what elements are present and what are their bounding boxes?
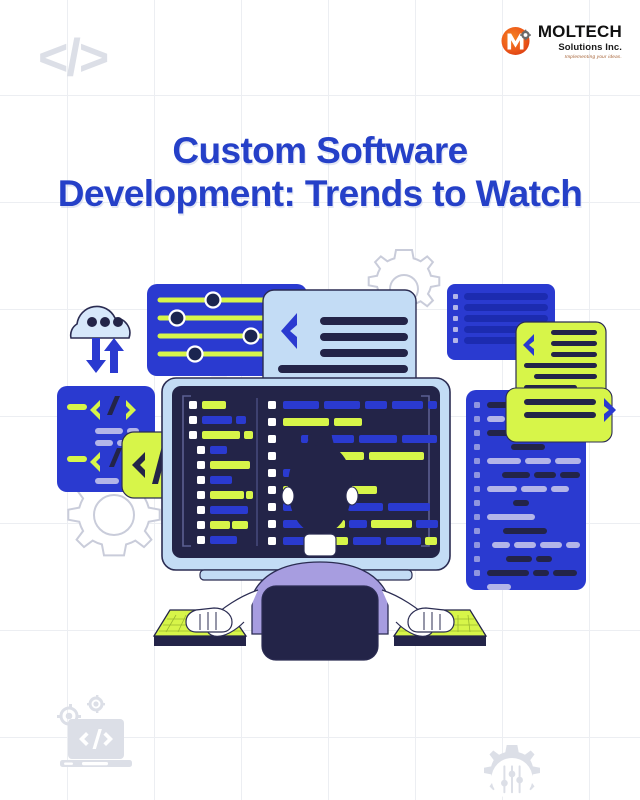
brand-subtitle: Solutions Inc. — [538, 43, 622, 53]
lime-tooltip-card — [506, 388, 616, 442]
page-title-line-1: Custom Software — [172, 130, 467, 171]
brand-name: MOLTECH — [538, 23, 622, 40]
page-title-line-2: Development: Trends to Watch — [22, 172, 618, 216]
moltech-m-logo-icon — [500, 24, 534, 58]
poster-canvas: </> — [0, 0, 640, 800]
page-title: Custom Software Development: Trends to W… — [0, 129, 640, 216]
code-brackets-watermark-icon: </> — [38, 32, 107, 84]
hero-illustration — [0, 238, 640, 668]
laptop-code-gears-watermark-icon — [44, 692, 140, 777]
brand-tagline: Implementing your ideas. — [538, 55, 622, 60]
gear-sliders-watermark-icon — [466, 742, 558, 800]
brand-logo[interactable]: MOLTECH Solutions Inc. Implementing your… — [500, 22, 622, 60]
cloud-sync-icon — [71, 306, 130, 373]
